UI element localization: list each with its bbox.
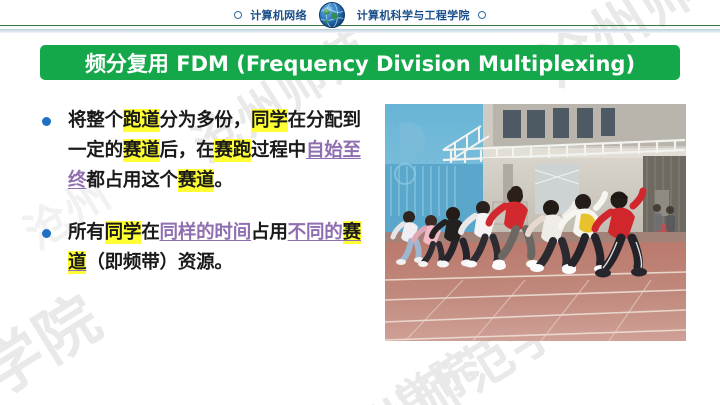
text-run: 过程中 — [251, 140, 306, 161]
track-running-photo — [385, 104, 686, 341]
bullet-text-1: 将整个跑道分为多份，同学在分配到一定的赛道后，在赛跑过程中自始至终都占用这个赛道… — [68, 106, 368, 196]
emphasis-run: 同样的时间 — [160, 222, 252, 243]
background-watermark: 学院 — [383, 334, 485, 405]
text-run: 后，在 — [160, 140, 215, 161]
highlighted-run: 同学 — [251, 109, 288, 132]
slide-canvas: 沧州师范 沧州师 沧州 沧州 学院 沧州师范学院 学院 计算机网络 — [0, 0, 720, 405]
list-item: 所有同学在同样的时间占用不同的赛道（即频带）资源。 — [38, 218, 368, 278]
globe-icon — [317, 1, 347, 29]
highlighted-run: 赛跑 — [214, 139, 251, 162]
bullet-list: 将整个跑道分为多份，同学在分配到一定的赛道后，在赛跑过程中自始至终都占用这个赛道… — [38, 106, 368, 300]
emphasis-run: 不同的 — [288, 222, 343, 243]
bullet-dot-icon — [42, 229, 51, 238]
highlighted-run: 同学 — [105, 221, 142, 244]
highlighted-run: 跑道 — [123, 109, 160, 132]
bullet-dot-icon — [42, 117, 51, 126]
text-run: 所有 — [68, 222, 105, 243]
slide-header: 计算机网络 — [0, 0, 720, 34]
header-college-label: 计算机科学与工程学院 — [354, 7, 473, 23]
header-course-label: 计算机网络 — [247, 7, 310, 23]
text-run: 。 — [214, 170, 232, 191]
highlighted-run: 赛道 — [178, 169, 215, 192]
text-run: （即频带）资源。 — [86, 252, 232, 273]
header-right-dot-icon — [478, 11, 486, 19]
bullet-text-2: 所有同学在同样的时间占用不同的赛道（即频带）资源。 — [68, 218, 368, 278]
header-left-dot-icon — [234, 11, 242, 19]
highlighted-run: 赛道 — [123, 139, 160, 162]
slide-title-bar: 频分复用 FDM (Frequency Division Multiplexin… — [40, 45, 680, 80]
page-title: 频分复用 FDM (Frequency Division Multiplexin… — [85, 48, 635, 78]
list-item: 将整个跑道分为多份，同学在分配到一定的赛道后，在赛跑过程中自始至终都占用这个赛道… — [38, 106, 368, 196]
text-run: 将整个 — [68, 110, 123, 131]
text-run: 在 — [141, 222, 159, 243]
text-run: 分为多份， — [160, 110, 252, 131]
text-run: 占用 — [251, 222, 288, 243]
text-run: 都占用这个 — [86, 170, 178, 191]
